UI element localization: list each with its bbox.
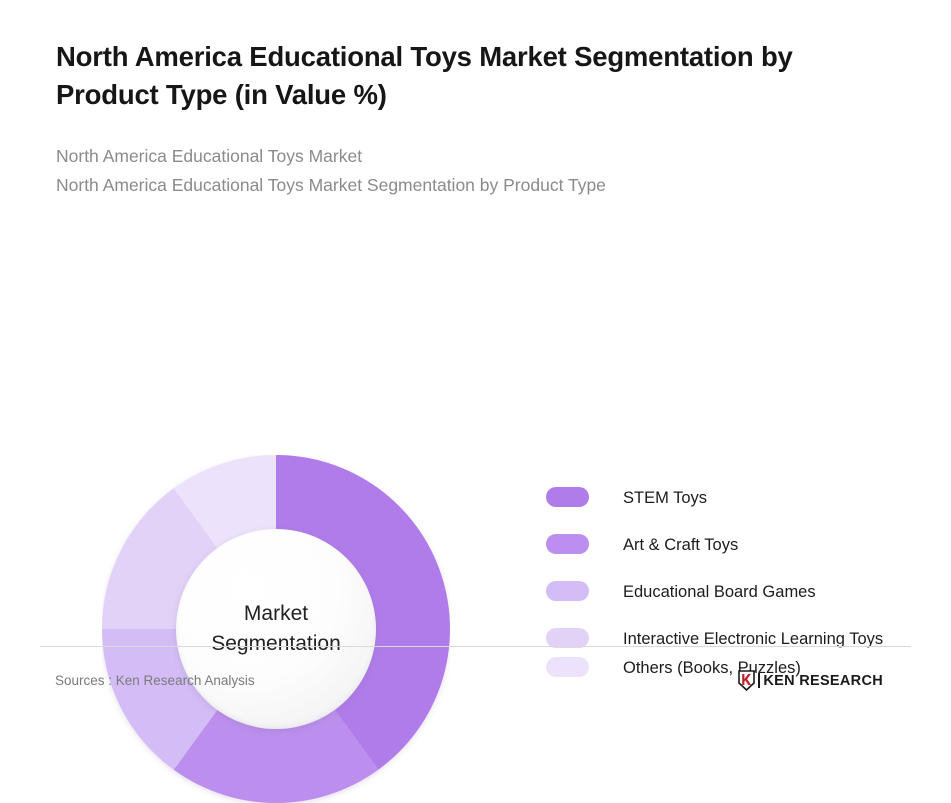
legend-item-art-craft-toys[interactable]: Art & Craft Toys <box>546 533 906 558</box>
legend-swatch-icon <box>546 487 589 507</box>
footer: Sources : Ken Research Analysis KEN RESE… <box>40 646 911 714</box>
legend-item-educational-board-games[interactable]: Educational Board Games <box>546 580 906 605</box>
brand-logo: KEN RESEARCH <box>738 670 911 691</box>
subtitle-group: North America Educational Toys Market No… <box>56 142 895 199</box>
legend-item-stem-toys[interactable]: STEM Toys <box>546 486 906 511</box>
brand-divider <box>758 673 760 688</box>
legend-label: STEM Toys <box>623 486 707 511</box>
legend-label: Educational Board Games <box>623 580 816 605</box>
brand-name: KEN RESEARCH <box>763 673 883 689</box>
subtitle-secondary: North America Educational Toys Market Se… <box>56 171 895 199</box>
legend-swatch-icon <box>546 581 589 601</box>
page-title: North America Educational Toys Market Se… <box>56 38 895 113</box>
content-area: Market Segmentation STEM Toys Art & Craf… <box>0 199 951 714</box>
donut-chart: Market Segmentation <box>102 455 450 803</box>
donut-wrapper: Market Segmentation <box>102 455 450 803</box>
legend-swatch-icon <box>546 534 589 554</box>
slide-root: North America Educational Toys Market Se… <box>0 0 951 714</box>
subtitle-primary: North America Educational Toys Market <box>56 142 895 170</box>
ken-research-logo-icon <box>738 670 755 691</box>
legend-label: Art & Craft Toys <box>623 533 738 558</box>
sources-text: Sources : Ken Research Analysis <box>40 673 255 688</box>
donut-center-line-1: Market <box>244 599 308 629</box>
header: North America Educational Toys Market Se… <box>0 0 951 199</box>
